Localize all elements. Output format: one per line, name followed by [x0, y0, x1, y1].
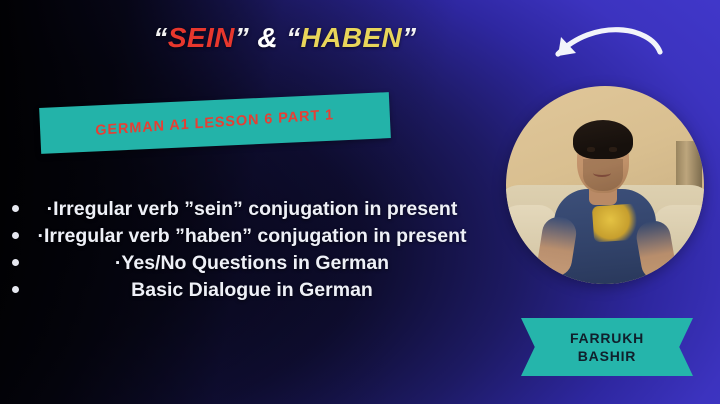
slide-canvas: “SEIN” & “HABEN” GERMAN A1 LESSON 6 PART… — [0, 0, 720, 404]
list-item-label: Basic Dialogue in German — [131, 279, 373, 301]
curved-arrow-icon — [528, 12, 688, 84]
photo-person-smile — [593, 169, 611, 177]
bullet-dot-icon — [12, 205, 19, 212]
list-item: ·Irregular verb ”haben” conjugation in p… — [0, 223, 492, 250]
list-item-label: ·Yes/No Questions in German — [115, 252, 389, 274]
photo-shirt-print — [592, 203, 638, 242]
photo-person-eye-right — [609, 147, 617, 151]
list-item-label: ·Irregular verb ”sein” conjugation in pr… — [47, 198, 458, 220]
bullet-dot-icon — [12, 259, 19, 266]
lesson-banner: GERMAN A1 LESSON 6 PART 1 — [39, 92, 391, 154]
list-item: ·Yes/No Questions in German — [0, 250, 492, 277]
list-item: Basic Dialogue in German — [0, 277, 492, 304]
presenter-last-name: BASHIR — [578, 347, 636, 365]
photo-person-eye-left — [587, 147, 595, 151]
title-open-quote-haben: “ — [286, 22, 300, 53]
bullet-dot-icon — [12, 232, 19, 239]
title-word-haben: HABEN — [301, 22, 403, 53]
bullet-dot-icon — [12, 286, 19, 293]
list-item-label: ·Irregular verb ”haben” conjugation in p… — [37, 225, 466, 247]
presenter-name: FARRUKH BASHIR — [521, 318, 693, 376]
title-close-quote-haben: ” — [402, 22, 416, 53]
topic-list: ·Irregular verb ”sein” conjugation in pr… — [0, 196, 492, 304]
avatar — [506, 86, 704, 284]
presenter-first-name: FARRUKH — [570, 329, 644, 347]
title-ampersand: & — [257, 22, 278, 53]
title-word-sein: SEIN — [168, 22, 235, 53]
lesson-banner-label: GERMAN A1 LESSON 6 PART 1 — [96, 107, 335, 139]
list-item: ·Irregular verb ”sein” conjugation in pr… — [0, 196, 492, 223]
page-title: “SEIN” & “HABEN” — [120, 22, 450, 54]
title-open-quote-sein: “ — [153, 22, 167, 53]
presenter-name-ribbon: FARRUKH BASHIR — [521, 318, 693, 376]
title-close-quote-sein: ” — [235, 22, 249, 53]
photo-person-hair — [573, 120, 632, 160]
